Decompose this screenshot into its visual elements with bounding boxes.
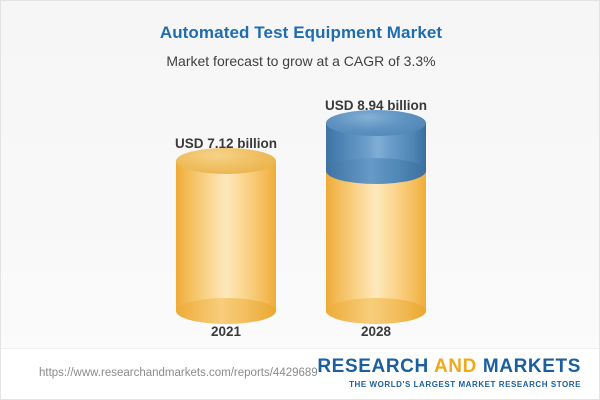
logo-word-and: AND <box>434 356 477 377</box>
cylinder-segment-base <box>176 161 276 311</box>
logo-word-markets: MARKETS <box>483 356 581 377</box>
cylinder-2028[interactable] <box>326 123 426 311</box>
page-title: Automated Test Equipment Market <box>1 23 600 43</box>
cylinder-bottom-cap <box>326 298 426 324</box>
report-url[interactable]: https://www.researchandmarkets.com/repor… <box>39 367 318 379</box>
cylinder-segment-growth <box>326 123 426 171</box>
category-label-2028: 2028 <box>296 324 456 339</box>
cylinder-top-cap <box>326 110 426 136</box>
brand-logo[interactable]: RESEARCH AND MARKETS THE WORLD'S LARGEST… <box>317 357 581 391</box>
logo-tagline: THE WORLD'S LARGEST MARKET RESEARCH STOR… <box>317 379 581 391</box>
cylinder-body <box>176 161 276 311</box>
chart-card: Automated Test Equipment Market Market f… <box>0 0 600 400</box>
cylinder-bottom-cap <box>176 298 276 324</box>
cylinder-segment-base <box>326 171 426 311</box>
chart-plot-area: Automated Test Equipment Market Market f… <box>1 1 600 351</box>
cylinder-body <box>326 171 426 311</box>
logo-wordmark: RESEARCH AND MARKETS <box>317 357 581 377</box>
logo-word-research: RESEARCH <box>317 356 428 377</box>
category-label-2021: 2021 <box>146 324 306 339</box>
cylinder-2021[interactable] <box>176 161 276 311</box>
footer: https://www.researchandmarkets.com/repor… <box>1 348 600 399</box>
cylinder-bottom-cap <box>326 158 426 184</box>
chart-subtitle: Market forecast to grow at a CAGR of 3.3… <box>1 53 600 69</box>
cylinder-top-cap <box>176 148 276 174</box>
